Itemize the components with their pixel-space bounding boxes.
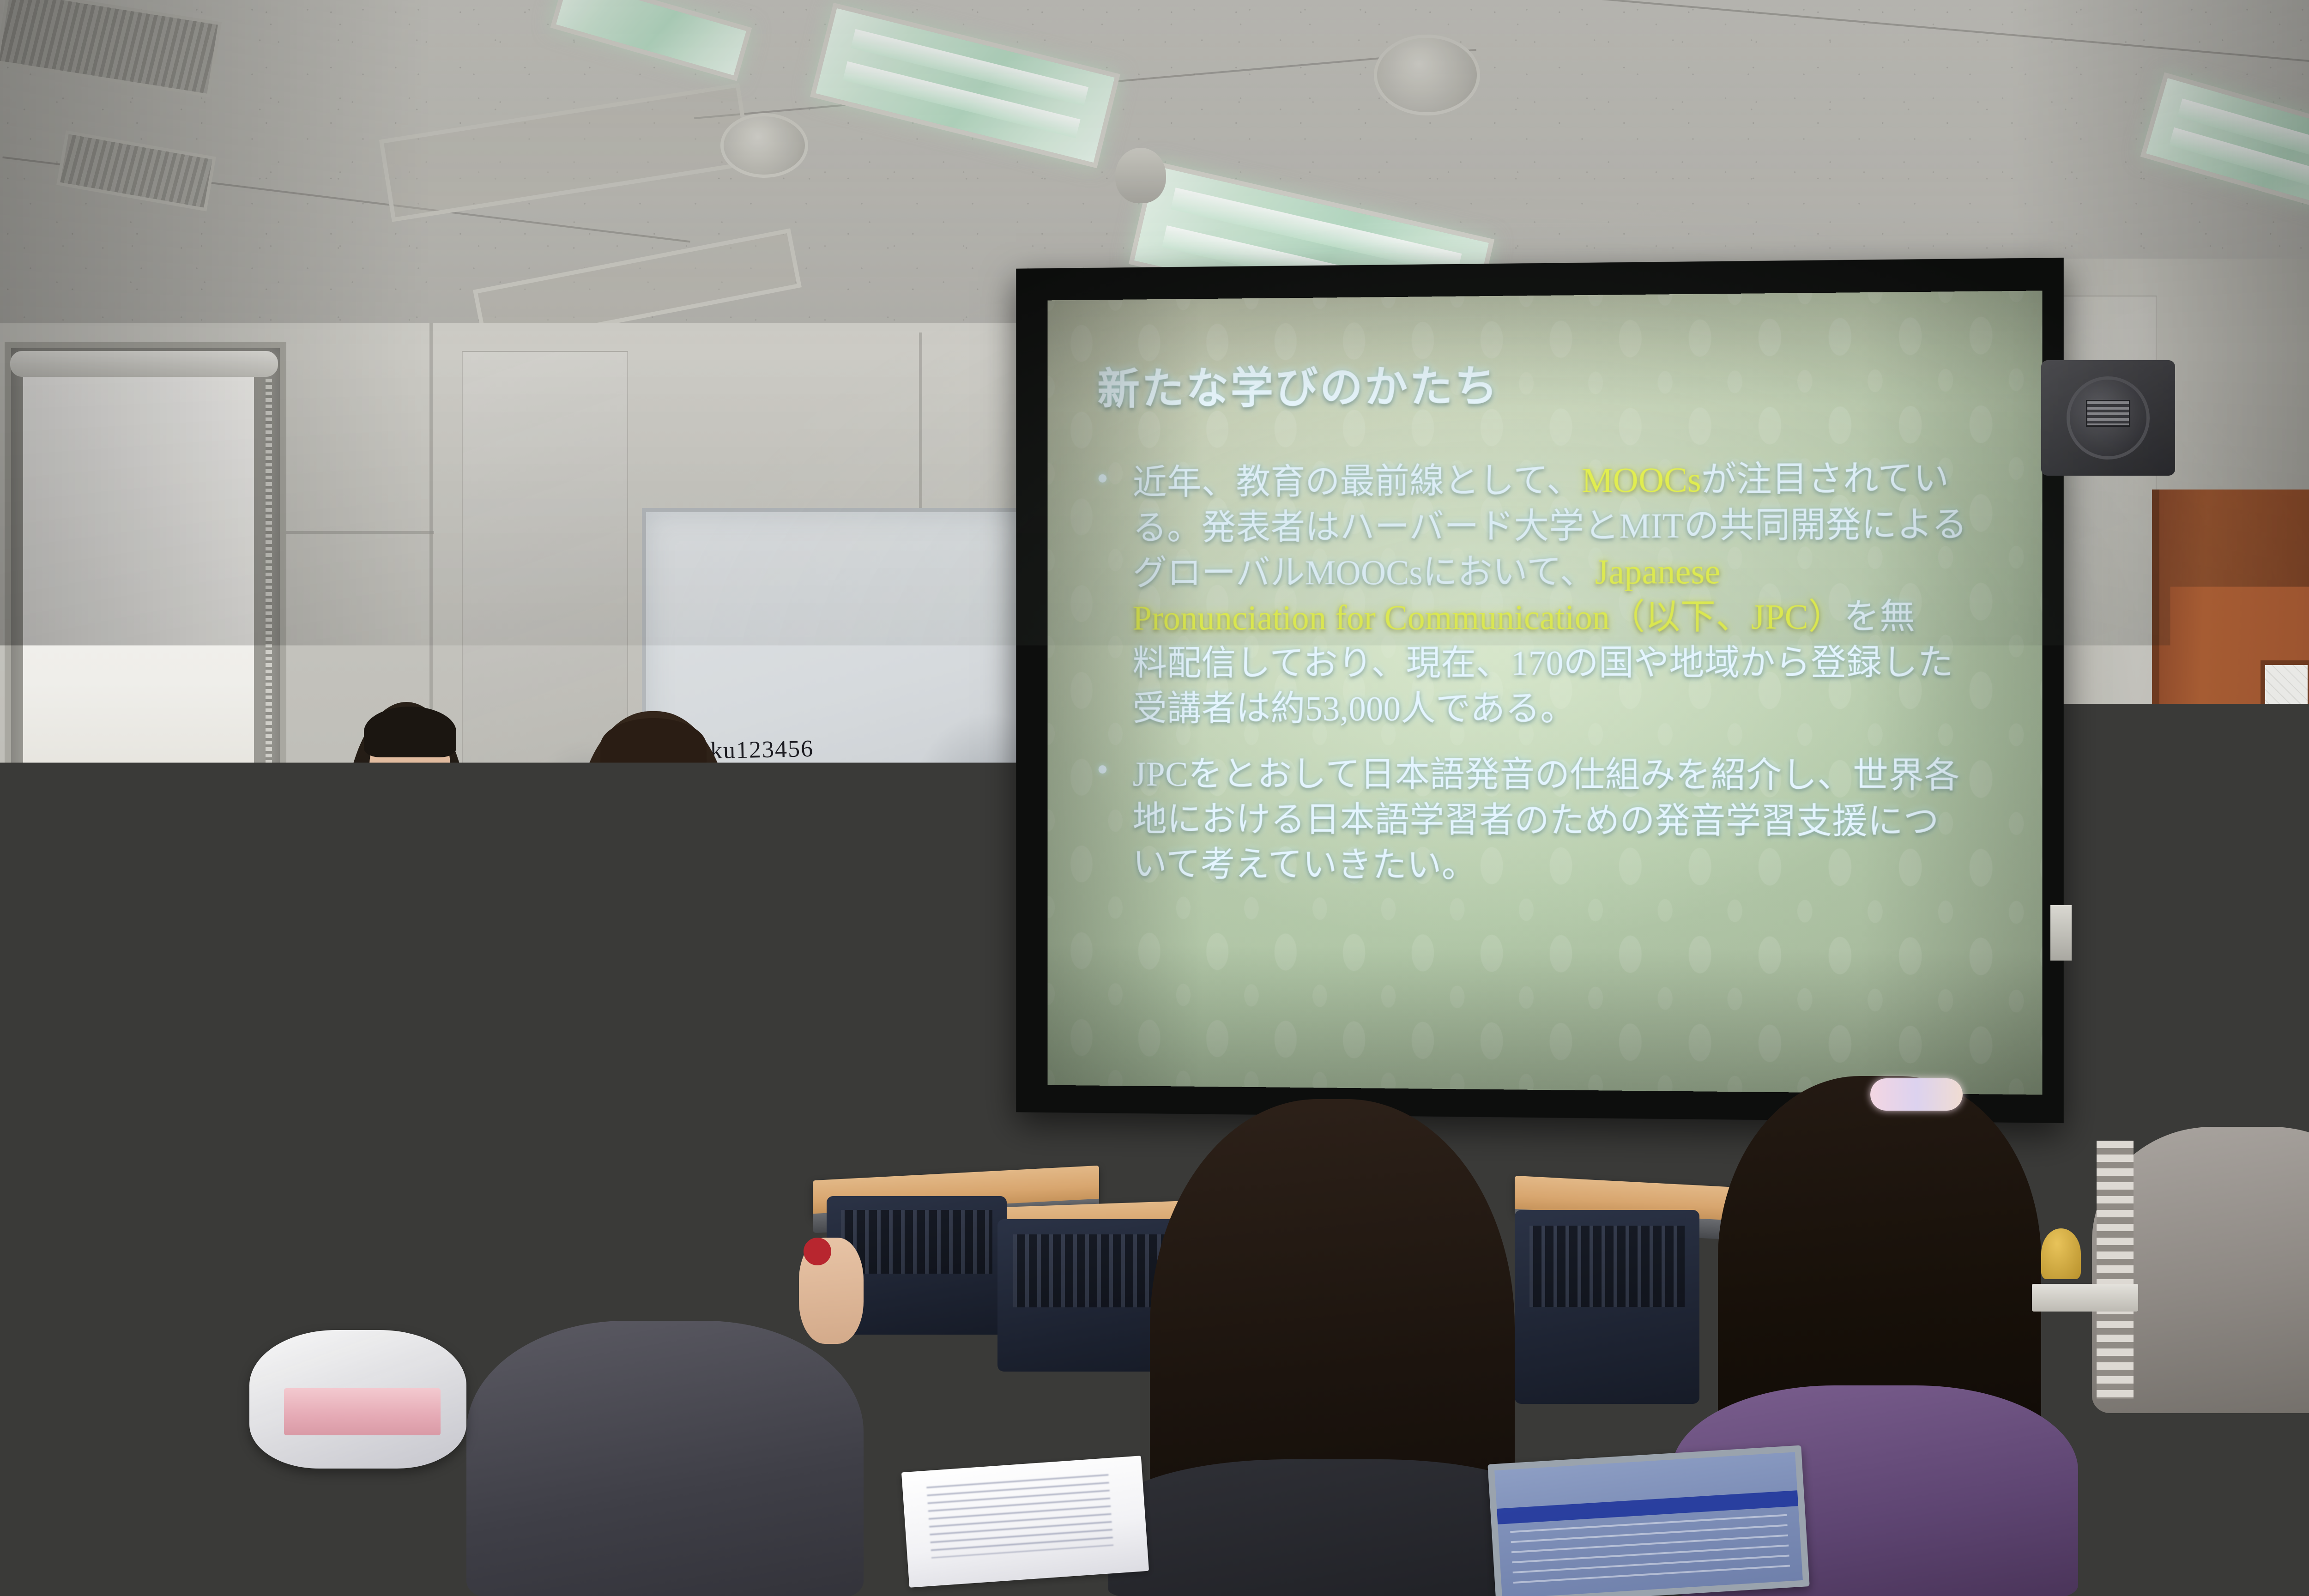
notice-item-label: 2. 냉난방기 확인 [2232, 918, 2292, 928]
audience-far-right-stripes [2097, 1141, 2134, 1399]
laptop-app-content [1510, 1514, 1790, 1585]
slide-bullet-line: Pronunciation for Communication（以下、JPC）を… [1132, 594, 1967, 641]
hair-clip-icon [1870, 1078, 1963, 1111]
notice-item-2: 2. 냉난방기 확인 [2204, 916, 2309, 928]
pink-object-on-sill [139, 905, 231, 933]
blind-roller-bar[interactable] [10, 351, 278, 377]
slide-plain-text: 近年、教育の最前線として、 [1132, 461, 1581, 502]
audience-left-jacket [466, 1321, 864, 1596]
slide-plain-text: を無 [1844, 598, 1915, 637]
notice-item-label: 3. 컴퓨터 확인 [2236, 935, 2289, 944]
slide-bullet-line: 受講者は約53,000人である。 [1132, 686, 1967, 732]
lectern-accent-strip [231, 935, 416, 945]
window-roller-blind[interactable] [23, 374, 254, 933]
notice-item-1: 1. 전등 확인 [2204, 899, 2309, 912]
e-logo-icon [277, 1004, 304, 1031]
slide-plain-text: が注目されてい [1701, 459, 1949, 499]
slide-highlight-text: Pronunciation for Communication（以下、JPC） [1132, 598, 1844, 638]
handout-papers[interactable] [2168, 1477, 2309, 1595]
slide-highlight-text: Japanese [1595, 552, 1720, 591]
projection-screen: 新たな学びのかたち •近年、教育の最前線として、MOOCsが注目されている。発表… [1048, 290, 2043, 1094]
seal-university-name: SUNGKYUL UNIVERSITY [282, 1058, 425, 1069]
desk-bell-base [2032, 1284, 2138, 1312]
keypad-icon[interactable] [2086, 400, 2130, 427]
slide-bullet-line: グローバルMOOCsにおいて、Japanese [1132, 548, 1967, 596]
desk-bell-icon[interactable] [2041, 1228, 2081, 1279]
slide-plain-text: 地における日本語学習者のための発音学習支援につ [1132, 800, 1939, 841]
slide-bullet: •近年、教育の最前線として、MOOCsが注目されている。発表者はハーバード大学と… [1097, 455, 2002, 732]
bullet-marker-icon: • [1097, 751, 1132, 887]
slide-bullet-line: JPCをとおして日本語発音の仕組みを紹介し、世界各 [1132, 752, 1959, 799]
blind-chain[interactable] [266, 379, 272, 859]
light-switch[interactable] [2050, 905, 2072, 961]
smoke-detector-icon [720, 113, 808, 178]
handout-text-lines [926, 1474, 1113, 1558]
slide-bullet-line: る。発表者はハーバード大学とMITの共同開発による [1132, 502, 1967, 551]
slide-bullet-text: JPCをとおして日本語発音の仕組みを紹介し、世界各地における日本語学習者のための… [1132, 752, 1959, 891]
notice-chip-computer-icon [2292, 935, 2308, 943]
estation-logo: STATION [277, 1000, 434, 1034]
laptop-screen[interactable] [1487, 1445, 1809, 1596]
seal-cross-icon [321, 1125, 386, 1130]
classroom-chair[interactable] [0, 1432, 240, 1596]
slide-plain-text: グローバルMOOCsにおいて、 [1132, 552, 1595, 592]
pink-handouts-in-bag [284, 1388, 440, 1435]
slide-plain-text: JPCをとおして日本語発音の仕組みを紹介し、世界各 [1132, 755, 1959, 795]
microphone-head-icon [596, 834, 625, 863]
slide-title: 新たな学びのかたち [1097, 347, 2002, 417]
notice-chip-aircon-icon [2297, 919, 2309, 926]
notice-line-1: 각 수업시간 마지막 퇴실자는 나가기 전 [2204, 856, 2309, 879]
slide-bullet: •JPCをとおして日本語発音の仕組みを紹介し、世界各地における日本語学習者のため… [1097, 751, 2002, 891]
handout-text-lines [2191, 1493, 2309, 1567]
fire-sprinkler-icon [1115, 148, 1166, 203]
slide-highlight-text: MOOCs [1582, 460, 1701, 500]
bullet-marker-icon: • [1097, 460, 1132, 731]
slide-bullet-line: 近年、教育の最前線として、MOOCsが注目されてい [1132, 456, 1967, 506]
estation-label: STATION [310, 1000, 442, 1034]
university-seal: 1962 SUNGKYUL UNIVERSITY 성결대학교 [282, 1048, 425, 1215]
door-notice-sign: 〈강의실 퇴실자 점검사항〉 각 수업시간 마지막 퇴실자는 나가기 전 아래 … [2198, 827, 2309, 934]
slide-plain-text: いて考えていきたい。 [1132, 845, 1476, 885]
slide-bullet-list: •近年、教育の最前線として、MOOCsが注目されている。発表者はハーバード大学と… [1097, 455, 2002, 891]
classroom-presentation-photo: ) : sku123456 新たな学びのかたち •近年、教育の最前線として、MO… [0, 0, 2309, 1596]
notice-item-3: 3. 컴퓨터 확인 [2204, 932, 2309, 945]
notice-item-label: 1. 전등 확인 [2240, 901, 2285, 911]
slide-plain-text: 受講者は約53,000人である。 [1132, 689, 1575, 728]
slide-bullet-text: 近年、教育の最前線として、MOOCsが注目されている。発表者はハーバード大学とM… [1132, 456, 1967, 732]
seal-korean-name: 성결대학교 [282, 1192, 425, 1206]
card-reader-disc[interactable] [2067, 376, 2150, 459]
audience-left-red-accessory [804, 1238, 831, 1265]
seal-year: 1962 [321, 1130, 386, 1144]
wall-seam [286, 531, 434, 534]
slide-bullet-line: いて考えていきたい。 [1132, 842, 1959, 891]
handout-papers[interactable] [901, 1456, 1149, 1588]
slide-bullet-line: 料配信しており、現在、170の国や地域から登録した [1132, 640, 1967, 686]
door-access-keypad[interactable] [2041, 360, 2175, 476]
audience-far-right-hair [2166, 951, 2309, 1155]
slide-plain-text: 料配信しており、現在、170の国や地域から登録した [1132, 643, 1953, 683]
notice-title: 〈강의실 퇴실자 점검사항〉 [2204, 835, 2309, 852]
seal-ribbon-icon [305, 1148, 402, 1166]
notice-chip-light-icon [2288, 902, 2304, 910]
door-window [2261, 660, 2309, 767]
plastic-bag[interactable] [249, 1330, 466, 1469]
notice-line-2: 아래 사항을 체크! 확인해주세요 [2204, 883, 2309, 895]
slide-content: 新たな学びのかたち •近年、教育の最前線として、MOOCsが注目されている。発表… [1097, 347, 2002, 1057]
slide-bullet-line: 地における日本語学習者のための発音学習支援につ [1132, 797, 1959, 845]
slide-plain-text: る。発表者はハーバード大学とMITの共同開発による [1132, 505, 1967, 547]
presenter-left-bangs [364, 707, 456, 757]
presenter-right-bangs [600, 718, 707, 774]
classroom-chair[interactable] [1515, 1210, 1699, 1404]
ceiling-speaker-icon [1374, 35, 1480, 115]
